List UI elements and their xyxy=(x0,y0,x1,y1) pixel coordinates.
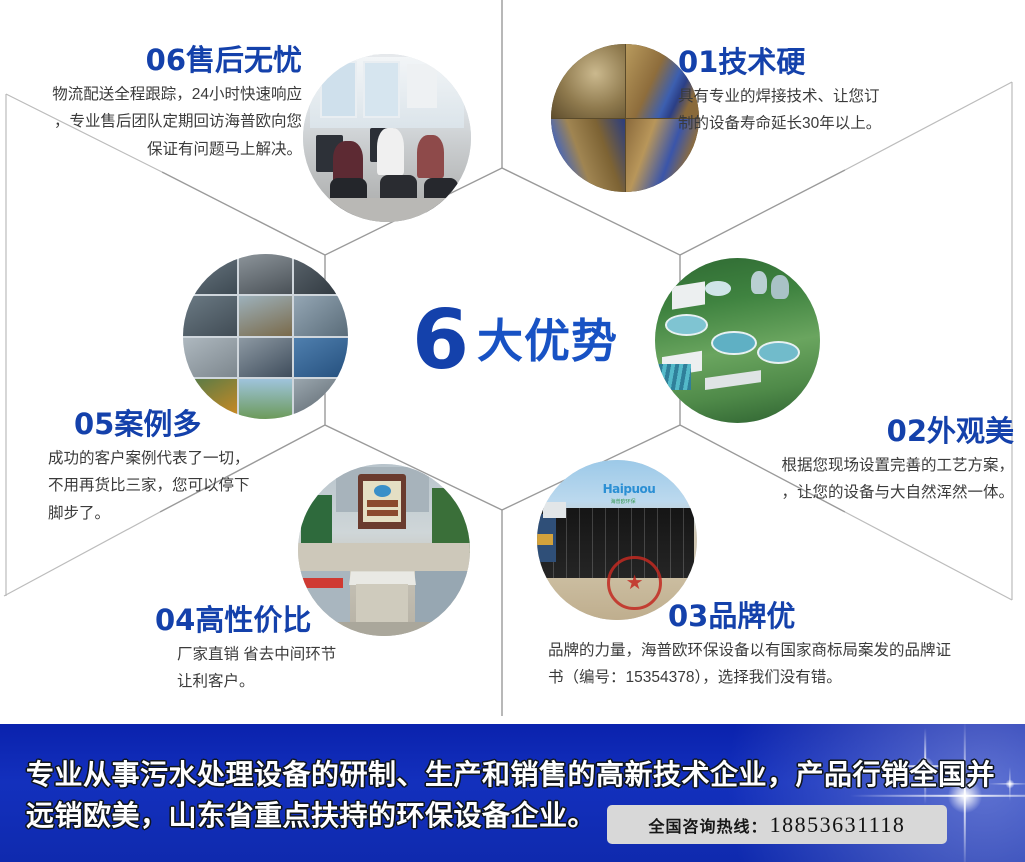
advantage-body-03: 品牌的力量，海普欧环保设备以有国家商标局案发的品牌证 书（编号：15354378… xyxy=(548,637,998,691)
advantage-body-line: 保证有问题马上解决。 xyxy=(20,136,302,163)
advantage-block-05: 05案例多 成功的客户案例代表了一切， 不用再货比三家，您可以停下 脚步了。 xyxy=(74,408,374,527)
banner-line-1: 专业从事污水处理设备的研制、生产和销售的高新技术企业，产品行销全国并 xyxy=(26,754,906,795)
advantage-body-line: 书（编号：15354378），选择我们没有错。 xyxy=(548,664,998,691)
advantage-body-05: 成功的客户案例代表了一切， 不用再货比三家，您可以停下 脚步了。 xyxy=(48,445,374,526)
advantage-heading-01: 01技术硬 xyxy=(678,46,998,79)
advantage-heading-03: 03品牌优 xyxy=(668,600,998,633)
equipment-brand-photo: Haipuou 海普欧环保 ★ xyxy=(537,460,697,620)
office-staff-photo xyxy=(303,54,471,222)
welding-photo xyxy=(551,44,699,192)
advantage-body-01: 具有专业的焊接技术、让您订 制的设备寿命延长30年以上。 xyxy=(678,83,998,137)
advantage-body-line: 具有专业的焊接技术、让您订 xyxy=(678,83,998,110)
hotline-number: 18853631118 xyxy=(770,812,906,838)
advantage-body-line: ，专业售后团队定期回访海普欧向您 xyxy=(20,108,302,135)
advantage-body-line: 脚步了。 xyxy=(48,500,374,527)
advantage-body-line: 让利客户。 xyxy=(177,668,475,695)
advantage-body-line: 制的设备寿命延长30年以上。 xyxy=(678,110,998,137)
case-collage-photo xyxy=(183,254,348,419)
hotline-box[interactable]: 全国咨询热线： 18853631118 xyxy=(607,805,947,844)
advantage-block-04: 04高性价比 厂家直销 省去中间环节 让利客户。 xyxy=(155,604,475,696)
advantage-heading-02: 02外观美 xyxy=(640,415,1014,448)
advantage-body-line: 品牌的力量，海普欧环保设备以有国家商标局案发的品牌证 xyxy=(548,637,998,664)
infographic-stage: 6 大优势 06售后无忧 物流配送全程跟踪，24小时快速响应 ，专业售后团队定期… xyxy=(0,0,1025,862)
photo-watermark-sub: 海普欧环保 xyxy=(611,498,636,505)
advantage-heading-04: 04高性价比 xyxy=(155,604,475,637)
center-label: 6 大优势 xyxy=(385,296,645,386)
advantage-body-line: 不用再货比三家，您可以停下 xyxy=(48,472,374,499)
advantage-body-06: 物流配送全程跟踪，24小时快速响应 ，专业售后团队定期回访海普欧向您 保证有问题… xyxy=(20,81,302,162)
advantage-body-line: 物流配送全程跟踪，24小时快速响应 xyxy=(20,81,302,108)
advantage-heading-05: 05案例多 xyxy=(74,408,374,441)
hotline-label: 全国咨询热线： xyxy=(649,813,768,837)
photo-watermark: Haipuou xyxy=(603,482,656,496)
center-number: 6 xyxy=(412,300,467,382)
advantage-body-line: 厂家直销 省去中间环节 xyxy=(177,641,475,668)
advantage-block-01: 01技术硬 具有专业的焊接技术、让您订 制的设备寿命延长30年以上。 xyxy=(678,46,998,138)
advantage-block-03: 03品牌优 品牌的力量，海普欧环保设备以有国家商标局案发的品牌证 书（编号：15… xyxy=(548,600,998,692)
advantage-body-line: 成功的客户案例代表了一切， xyxy=(48,445,374,472)
advantage-heading-06: 06售后无忧 xyxy=(20,44,302,77)
advantage-body-04: 厂家直销 省去中间环节 让利客户。 xyxy=(177,641,475,695)
advantage-block-06: 06售后无忧 物流配送全程跟踪，24小时快速响应 ，专业售后团队定期回访海普欧向… xyxy=(20,44,302,163)
wastewater-plant-aerial-photo xyxy=(655,258,820,423)
center-text: 大优势 xyxy=(477,318,618,364)
